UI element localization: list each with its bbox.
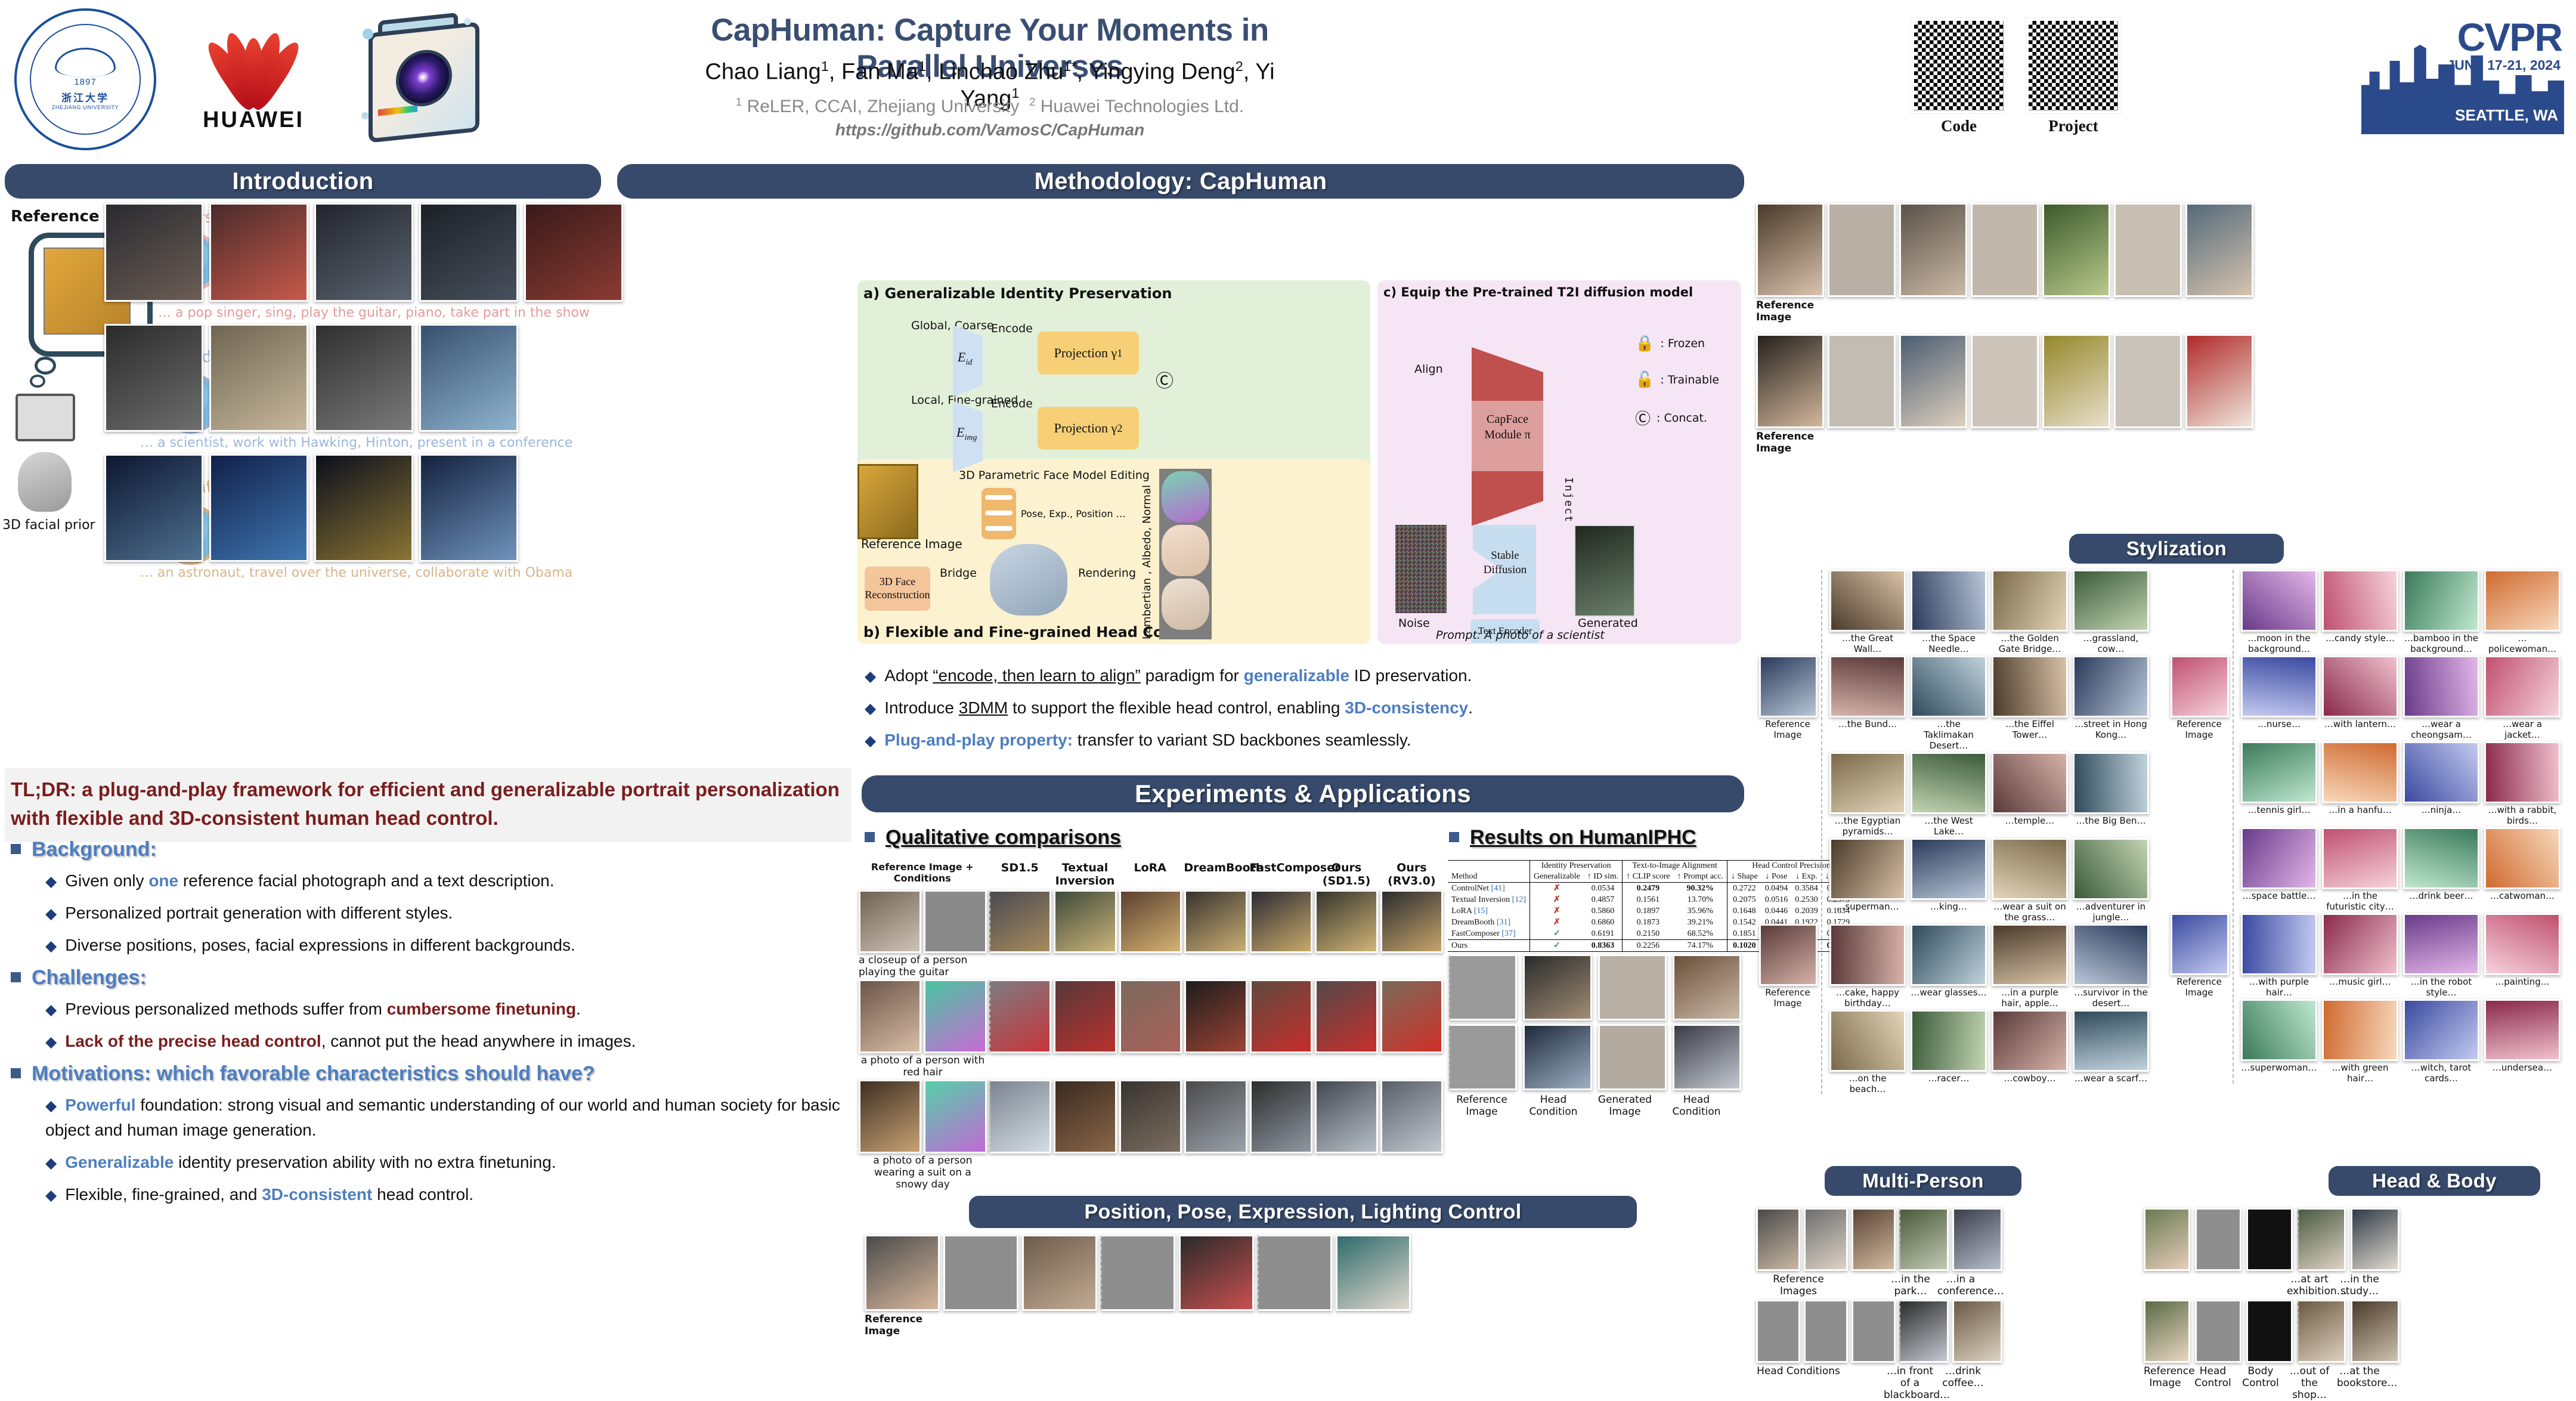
zju-chinese-name: 浙江大学 bbox=[61, 89, 109, 104]
cell-clip: 0.2479 bbox=[1623, 883, 1674, 895]
cell-prompt-acc: 74.17% bbox=[1674, 940, 1727, 952]
bullet-group-motivations: Motivations: which favorable characteris… bbox=[11, 1062, 852, 1207]
divider bbox=[1821, 570, 1822, 654]
3d-face-reconstruction-box: 3D Face Reconstruction bbox=[865, 567, 930, 611]
section-header-methodology: Methodology: CapHuman bbox=[617, 164, 1744, 199]
stylization-caption: …the Great Wall… bbox=[1829, 633, 1906, 654]
divider bbox=[2233, 827, 2234, 912]
lock-closed-icon: 🔒 bbox=[1635, 334, 1654, 352]
cell-shape: 0.1648 bbox=[1727, 905, 1761, 917]
cell-shape: 0.1020 bbox=[1727, 940, 1761, 952]
mp-caption-2: …in a conference… bbox=[1937, 1273, 1984, 1297]
stylization-cell: …wear a cheongsam… bbox=[2403, 655, 2479, 740]
stylization-cell: …the West Lake… bbox=[1911, 752, 1987, 837]
cell-shape: 0.2722 bbox=[1727, 883, 1761, 895]
qr-label-project: Project bbox=[2026, 117, 2121, 135]
qual-row: a closeup of a person playing the guitar bbox=[859, 890, 1443, 978]
stylization-cell: …the Big Ben… bbox=[2073, 752, 2149, 826]
stylization-caption: …the Egyptian pyramids… bbox=[1829, 815, 1906, 837]
cvpr-logo: CVPR JUNE 17-21, 2024 SEATTLE, WA bbox=[2361, 6, 2564, 134]
diamond-bullet-icon: ◆ bbox=[45, 1187, 57, 1204]
divider bbox=[1821, 1010, 1822, 1094]
qr-code-project[interactable]: Project bbox=[2026, 18, 2121, 135]
hb-caption-1: …at art exhibition… bbox=[2287, 1273, 2332, 1297]
cell-method: ControlNet [41] bbox=[1448, 883, 1530, 895]
hb-caption-3: …out of the shop… bbox=[2287, 1365, 2332, 1401]
stylization-caption: …survivor in the desert… bbox=[2073, 987, 2149, 1009]
stylization-row: Reference Image…cake, happy birthday……we… bbox=[1759, 924, 2165, 1009]
stylization-reference-cell: Reference Image bbox=[2171, 913, 2228, 998]
cell-method: Ours bbox=[1448, 940, 1530, 952]
qr-code-code[interactable]: Code bbox=[1911, 18, 2007, 135]
stylization-cell: …music girl… bbox=[2322, 913, 2398, 987]
hb-label-head-control: Head Control bbox=[2191, 1365, 2234, 1401]
stylization-caption: …moon in the background… bbox=[2241, 633, 2317, 654]
qual-row: a photo of a person wearing a suit on a … bbox=[859, 1080, 1443, 1190]
concat-icon: Ⓒ bbox=[1156, 366, 1174, 392]
diamond-bullet-icon: ◆ bbox=[865, 700, 876, 717]
stylization-caption: …in a hanfu… bbox=[2322, 805, 2398, 815]
divider bbox=[2233, 741, 2234, 826]
stylization-cell: …the Taklimakan Desert… bbox=[1911, 655, 1987, 751]
cell-shape: 0.1851 bbox=[1727, 928, 1761, 940]
caphuman-camera-icon bbox=[358, 11, 483, 142]
huawei-wordmark: HUAWEI bbox=[179, 107, 328, 133]
stylization-caption: …candy style… bbox=[2322, 633, 2398, 644]
cell-prompt-acc: 13.70% bbox=[1674, 894, 1727, 905]
concat-icon: Ⓒ bbox=[1635, 407, 1651, 429]
stylization-caption: …nurse… bbox=[2241, 719, 2317, 729]
zju-english-name: ZHEJIANG UNIVERSITY bbox=[52, 104, 119, 111]
stylization-ref-label-2: Reference Image bbox=[1756, 431, 1846, 454]
stylization-caption: …space battle… bbox=[2241, 890, 2317, 901]
stylization-cell: …king… bbox=[1911, 838, 1987, 912]
stylization-row: Reference Image…the Bund……the Taklimakan… bbox=[1759, 655, 2165, 751]
cell-prompt-acc: 68.52% bbox=[1674, 928, 1727, 940]
stylization-caption: …the Eiffel Tower… bbox=[1992, 719, 2068, 740]
stylization-caption: …cake, happy birthday… bbox=[1829, 987, 1906, 1009]
stylization-cell: …survivor in the desert… bbox=[2073, 924, 2149, 1009]
group-title-motivations: Motivations: which favorable characteris… bbox=[11, 1062, 852, 1085]
intro-caption-1: … a pop singer, sing, play the guitar, p… bbox=[158, 305, 850, 320]
bullet-group-background: Background: ◆Given only one reference fa… bbox=[11, 838, 852, 958]
affiliations: 1 ReLER, CCAI, Zhejiang University 2 Hua… bbox=[650, 95, 1330, 117]
stylization-cell: …wear glasses… bbox=[1911, 924, 1987, 998]
stylization-top-row-1: Reference Image bbox=[1756, 203, 2253, 323]
stylization-caption: …cowboy… bbox=[1992, 1073, 2068, 1084]
list-item: ◆Diverse positions, poses, facial expres… bbox=[45, 933, 852, 958]
hb-label-body-control: Body Control bbox=[2239, 1365, 2282, 1401]
results-examples: Reference Image Head Condition Generated… bbox=[1449, 954, 1741, 1118]
zhejiang-university-logo: 1897 浙江大学 ZHEJIANG UNIVERSITY bbox=[14, 8, 156, 150]
stylization-grid-left: …the Great Wall……the Space Needle……the G… bbox=[1759, 570, 2165, 1096]
project-url[interactable]: https://github.com/VamosC/CapHuman bbox=[650, 120, 1330, 140]
panel-a-reference-photo bbox=[857, 464, 918, 539]
stylization-cell: …superwoman… bbox=[2241, 999, 2317, 1073]
cell-prompt-acc: 90.32% bbox=[1674, 883, 1727, 895]
cell-clip: 0.1561 bbox=[1623, 894, 1674, 905]
zju-swoosh-icon bbox=[55, 48, 116, 77]
stylization-cell: …in a purple hair, apple… bbox=[1992, 924, 2068, 1009]
stylization-caption: …racer… bbox=[1911, 1073, 1987, 1084]
list-item: ◆Personalized portrait generation with d… bbox=[45, 901, 852, 926]
diamond-bullet-icon: ◆ bbox=[45, 1034, 57, 1050]
stylization-reference-cell: Reference Image bbox=[1759, 924, 1816, 1009]
cell-clip: 0.1897 bbox=[1623, 905, 1674, 917]
stylization-caption: …street in Hong Kong… bbox=[2073, 719, 2149, 740]
stylization-caption: …the Space Needle… bbox=[1911, 633, 1987, 654]
stylization-row: …space battle……in the futuristic city……d… bbox=[2171, 827, 2570, 912]
stylization-caption: …the Big Ben… bbox=[2073, 815, 2149, 826]
cell-id-sim: 0.0534 bbox=[1584, 883, 1623, 895]
label-noise: Noise bbox=[1398, 617, 1430, 630]
stylization-cell: …grassland, cow… bbox=[2073, 570, 2149, 654]
stylization-cell: …witch, tarot cards… bbox=[2403, 999, 2479, 1084]
stylization-cell: …cowboy… bbox=[1992, 1010, 2068, 1084]
zju-logo-inner: 1897 浙江大学 ZHEJIANG UNIVERSITY bbox=[30, 24, 141, 135]
label-global-coarse: Global, Coarse bbox=[911, 319, 994, 332]
cell-clip: 0.2150 bbox=[1623, 928, 1674, 940]
label-3d-editing: 3D Parametric Face Model Editing bbox=[959, 469, 1150, 482]
col-clip: ↑ CLIP score bbox=[1623, 871, 1674, 883]
group-title-challenges: Challenges: bbox=[11, 966, 852, 989]
stylization-cell: …with a rabbit, birds… bbox=[2484, 741, 2560, 826]
intro-gallery: … a pop singer, sing, play the guitar, p… bbox=[104, 203, 850, 580]
zju-founding-year: 1897 bbox=[74, 77, 96, 87]
cell-generalizable: ✓ bbox=[1530, 940, 1584, 952]
stylization-ref-label-1: Reference Image bbox=[1756, 299, 1846, 323]
stylization-row: Reference Image…nurse……with lantern……wea… bbox=[2171, 655, 2570, 740]
intro-row-1 bbox=[104, 203, 850, 302]
stylization-cell: …cake, happy birthday… bbox=[1829, 924, 1906, 1009]
stylization-cell: …on the beach… bbox=[1829, 1010, 1906, 1094]
stylization-caption: …in the futuristic city… bbox=[2322, 890, 2398, 912]
stylization-caption: …the Bund… bbox=[1829, 719, 1906, 729]
label-encode-1: Encode bbox=[991, 322, 1033, 335]
stylization-reference-label: Reference Image bbox=[1759, 987, 1816, 1009]
stylization-cell: …superman… bbox=[1829, 838, 1906, 912]
label-rendering: Rendering bbox=[1078, 567, 1136, 580]
stylization-cell: …moon in the background… bbox=[2241, 570, 2317, 654]
hb-label-reference: Reference Image bbox=[2144, 1365, 2187, 1401]
diamond-bullet-icon: ◆ bbox=[45, 1097, 57, 1114]
stylization-caption: …undersea… bbox=[2484, 1062, 2560, 1073]
stylization-cell: …the Bund… bbox=[1829, 655, 1906, 729]
stylization-cell: …nurse… bbox=[2241, 655, 2317, 729]
col-method: Method bbox=[1448, 871, 1530, 883]
stylization-reference-cell: Reference Image bbox=[2171, 655, 2228, 740]
stylization-cell: …in a hanfu… bbox=[2322, 741, 2398, 815]
stylization-cell: …painting… bbox=[2484, 913, 2560, 987]
intro-bullet-groups: Background: ◆Given only one reference fa… bbox=[11, 838, 852, 1214]
stylization-cell: …wear a scarf… bbox=[2073, 1010, 2149, 1084]
cell-shape: 0.2075 bbox=[1727, 894, 1761, 905]
lock-open-icon: 🔓 bbox=[1635, 370, 1654, 389]
label-pose-exp-position: Pose, Exp., Position … bbox=[1021, 508, 1126, 519]
square-bullet-icon bbox=[11, 844, 21, 854]
results-title: Results on HumanIPHC bbox=[1449, 826, 1696, 849]
cell-method: Textual Inversion [12] bbox=[1448, 894, 1530, 905]
stylization-caption: …with lantern… bbox=[2322, 719, 2398, 729]
stylization-cell: …street in Hong Kong… bbox=[2073, 655, 2149, 740]
stylization-caption: …painting… bbox=[2484, 976, 2560, 987]
legend-label-concat: : Concat. bbox=[1657, 412, 1707, 425]
diamond-bullet-icon: ◆ bbox=[45, 1155, 57, 1171]
rendered-stack bbox=[1159, 469, 1212, 639]
cell-clip: 0.2256 bbox=[1623, 940, 1674, 952]
legend-row-concat: Ⓒ : Concat. bbox=[1635, 407, 1719, 429]
stylization-row: …moon in the background……candy style……ba… bbox=[2171, 570, 2570, 654]
stylization-cell: …the Eiffel Tower… bbox=[1992, 655, 2068, 740]
section-header-head-body: Head & Body bbox=[2329, 1166, 2540, 1196]
divider bbox=[2233, 999, 2234, 1084]
cell-id-sim: 0.8363 bbox=[1584, 940, 1623, 952]
cell-generalizable: ✗ bbox=[1530, 917, 1584, 928]
stylization-cell: …catwoman… bbox=[2484, 827, 2560, 901]
stylization-cell: …wear a suit on the grass… bbox=[1992, 838, 2068, 923]
stylization-cell: …temple… bbox=[1992, 752, 2068, 826]
label-bridge: Bridge bbox=[940, 567, 977, 580]
cell-prompt-acc: 39.21% bbox=[1674, 917, 1727, 928]
stylization-caption: …tennis girl… bbox=[2241, 805, 2317, 815]
divider bbox=[2233, 570, 2234, 654]
group-header-alignment: Text-to-Image Alignment bbox=[1623, 861, 1727, 872]
qual-column-headers: Reference Image + Conditions SD1.5 Textu… bbox=[859, 861, 1443, 887]
stylization-reference-label: Reference Image bbox=[2171, 719, 2228, 740]
list-item: ◆Adopt “encode, then learn to align” par… bbox=[865, 663, 1741, 688]
panel-a-title: a) Generalizable Identity Preservation bbox=[863, 285, 1172, 302]
mp-caption-3: …in front of a blackboard… bbox=[1884, 1365, 1936, 1401]
hb-caption-2: …in the study… bbox=[2337, 1273, 2382, 1297]
stylization-cell: …the Great Wall… bbox=[1829, 570, 1906, 654]
label-inject: Inject bbox=[1562, 477, 1575, 523]
section-header-multi-person: Multi-Person bbox=[1825, 1166, 2021, 1196]
stylization-row: …on the beach……racer……cowboy……wear a sca… bbox=[1759, 1010, 2165, 1094]
qr-code-group: Code Project bbox=[1911, 18, 2121, 135]
legend-row-trainable: 🔓 : Trainable bbox=[1635, 370, 1719, 389]
projection-gamma1-box: Projection γ1 bbox=[1038, 332, 1139, 375]
divider bbox=[1821, 924, 1822, 1009]
qr-code-icon bbox=[1911, 18, 2007, 113]
stylization-caption: …grassland, cow… bbox=[2073, 633, 2149, 654]
stylization-caption: …witch, tarot cards… bbox=[2403, 1062, 2479, 1084]
list-item: ◆Introduce 3DMM to support the flexible … bbox=[865, 695, 1741, 720]
stylization-caption: …the Taklimakan Desert… bbox=[1911, 719, 1987, 751]
label-render-axis: Lambertian , Albedo, Normal bbox=[1141, 469, 1156, 639]
encoder-eid-label: Eid bbox=[958, 350, 972, 367]
sub-label-reference: Reference Image bbox=[1449, 1094, 1515, 1118]
stylization-caption: …in the robot style… bbox=[2403, 976, 2479, 998]
cvpr-dates: JUNE 17-21, 2024 bbox=[2447, 57, 2560, 73]
hb-caption-4: …at the bookstore… bbox=[2337, 1365, 2382, 1401]
stylization-row: …the Great Wall……the Space Needle……the G… bbox=[1759, 570, 2165, 654]
encoder-eimg-label: Eimg bbox=[956, 425, 977, 443]
section-header-ppel: Position, Pose, Expression, Lighting Con… bbox=[969, 1196, 1637, 1228]
legend-label-trainable: : Trainable bbox=[1660, 373, 1719, 386]
list-item: ◆Generalizable identity preservation abi… bbox=[45, 1150, 852, 1175]
stylization-cell: …in the futuristic city… bbox=[2322, 827, 2398, 912]
cell-clip: 0.1873 bbox=[1623, 917, 1674, 928]
bubble-dot-small bbox=[30, 375, 45, 388]
stylization-caption: …the Golden Gate Bridge… bbox=[1992, 633, 2068, 654]
col-prompt-acc: ↑ Prompt acc. bbox=[1674, 871, 1727, 883]
group-header-identity: Identity Preservation bbox=[1530, 861, 1623, 872]
intro-row-3 bbox=[104, 454, 850, 562]
stylization-caption: …superman… bbox=[1829, 901, 1906, 912]
stylization-reference-cell: Reference Image bbox=[1759, 655, 1816, 740]
stylization-caption: …policewoman… bbox=[2484, 633, 2560, 654]
stylization-caption: …with green hair… bbox=[2322, 1062, 2398, 1084]
stylization-caption: …temple… bbox=[1992, 815, 2068, 826]
stylization-caption: …ninja… bbox=[2403, 805, 2479, 815]
stylization-caption: …catwoman… bbox=[2484, 890, 2560, 901]
col-shape: ↓ Shape bbox=[1727, 871, 1761, 883]
3d-head-prior-icon bbox=[18, 452, 72, 512]
cell-id-sim: 0.5860 bbox=[1584, 905, 1623, 917]
capface-module-label: CapFaceModule π bbox=[1478, 412, 1537, 443]
mp-caption-4: …drink coffee… bbox=[1940, 1365, 1986, 1401]
stable-diffusion-label: StableDiffusion bbox=[1480, 549, 1530, 577]
facial-prior-label: 3D facial prior bbox=[2, 518, 95, 533]
stylization-caption: …with a rabbit, birds… bbox=[2484, 805, 2560, 826]
qualitative-title: Qualitative comparisons bbox=[865, 826, 1121, 849]
square-bullet-icon bbox=[11, 972, 21, 982]
stylization-top-row-2: Reference Image bbox=[1756, 334, 2253, 454]
divider bbox=[1821, 752, 1822, 837]
cell-id-sim: 0.6860 bbox=[1584, 917, 1623, 928]
legend-label-frozen: : Frozen bbox=[1660, 337, 1705, 350]
stylization-caption: …the West Lake… bbox=[1911, 815, 1987, 837]
3d-mesh-head-icon bbox=[990, 544, 1067, 616]
stylization-row: …superman……king……wear a suit on the gras… bbox=[1759, 838, 2165, 923]
stylization-cell: …with purple hair… bbox=[2241, 913, 2317, 998]
cell-id-sim: 0.4857 bbox=[1584, 894, 1623, 905]
stylization-reference-label: Reference Image bbox=[1759, 719, 1816, 740]
huawei-logo: HUAWEI bbox=[179, 18, 328, 137]
method-legend: 🔒 : Frozen 🔓 : Trainable Ⓒ : Concat. bbox=[1635, 334, 1719, 429]
list-item: ◆Flexible, fine-grained, and 3D-consiste… bbox=[45, 1182, 852, 1207]
panel-c-title: c) Equip the Pre-trained T2I diffusion m… bbox=[1383, 285, 1693, 299]
mp-caption-1: …in the park… bbox=[1887, 1273, 1934, 1297]
sub-label-head-cond-2: Head Condition bbox=[1664, 1094, 1729, 1118]
stylization-row: …the Egyptian pyramids……the West Lake……t… bbox=[1759, 752, 2165, 837]
stylization-cell: …racer… bbox=[1911, 1010, 1987, 1084]
legend-row-frozen: 🔒 : Frozen bbox=[1635, 334, 1719, 352]
stylization-cell: …ninja… bbox=[2403, 741, 2479, 815]
cell-prompt-acc: 35.96% bbox=[1674, 905, 1727, 917]
stylization-cell: …adventurer in jungle… bbox=[2073, 838, 2149, 923]
label-align: Align bbox=[1414, 363, 1443, 376]
square-bullet-icon bbox=[1449, 832, 1459, 842]
method-panel-b bbox=[857, 459, 1370, 644]
tldr-statement: TL;DR: a plug-and-play framework for eff… bbox=[5, 768, 852, 842]
stylization-row: …superwoman……with green hair……witch, tar… bbox=[2171, 999, 2570, 1084]
stylization-cell: …with green hair… bbox=[2322, 999, 2398, 1084]
stylization-caption: …superwoman… bbox=[2241, 1062, 2317, 1073]
projection-gamma2-box: Projection γ2 bbox=[1038, 407, 1139, 450]
stylization-cell: …bamboo in the background… bbox=[2403, 570, 2479, 654]
intro-row-2 bbox=[104, 324, 850, 432]
huawei-petals-icon bbox=[179, 18, 328, 107]
ppel-strip: Reference Image bbox=[865, 1235, 1411, 1337]
stylization-cell: …wear a jacket… bbox=[2484, 655, 2560, 740]
cell-method: FastComposer [37] bbox=[1448, 928, 1530, 940]
stylization-caption: …drink beer… bbox=[2403, 890, 2479, 901]
stylization-caption: …wear a suit on the grass… bbox=[1992, 901, 2068, 923]
slider-panel-icon bbox=[982, 488, 1016, 539]
stylization-cell: …policewoman… bbox=[2484, 570, 2560, 654]
stylization-caption: …music girl… bbox=[2322, 976, 2398, 987]
cell-generalizable: ✗ bbox=[1530, 905, 1584, 917]
camera-prior-icon bbox=[16, 394, 75, 441]
stylization-caption: …wear a scarf… bbox=[2073, 1073, 2149, 1084]
mp-label-reference: Reference Images bbox=[1756, 1273, 1841, 1297]
stylization-cell: …undersea… bbox=[2484, 999, 2560, 1073]
stylization-grid-right: …moon in the background……candy style……ba… bbox=[2171, 570, 2570, 1085]
cell-method: DreamBooth [31] bbox=[1448, 917, 1530, 928]
stylization-caption: …wear glasses… bbox=[1911, 987, 1987, 998]
stylization-cell: …the Golden Gate Bridge… bbox=[1992, 570, 2068, 654]
generated-image bbox=[1574, 525, 1635, 617]
stylization-cell: …tennis girl… bbox=[2241, 741, 2317, 815]
divider bbox=[2233, 655, 2234, 740]
list-item: ◆Given only one reference facial photogr… bbox=[45, 868, 852, 893]
qr-code-icon bbox=[2026, 18, 2121, 113]
ppel-reference-label: Reference Image bbox=[865, 1313, 936, 1337]
stylization-cell: …the Space Needle… bbox=[1911, 570, 1987, 654]
diamond-bullet-icon: ◆ bbox=[865, 668, 876, 685]
list-item: ◆Powerful foundation: strong visual and … bbox=[45, 1093, 852, 1143]
list-item: ◆Previous personalized methods suffer fr… bbox=[45, 997, 852, 1022]
diamond-bullet-icon: ◆ bbox=[865, 732, 876, 749]
intro-caption-2: … a scientist, work with Hawking, Hinton… bbox=[140, 435, 850, 450]
square-bullet-icon bbox=[865, 832, 875, 842]
stylization-cell: …space battle… bbox=[2241, 827, 2317, 901]
bubble-dot-large bbox=[35, 357, 56, 375]
mp-label-head-conditions: Head Conditions bbox=[1756, 1365, 1841, 1401]
cell-generalizable: ✗ bbox=[1530, 883, 1584, 895]
cell-method: LoRA [15] bbox=[1448, 905, 1530, 917]
stylization-row: …tennis girl……in a hanfu……ninja……with a … bbox=[2171, 741, 2570, 826]
stylization-cell: …drink beer… bbox=[2403, 827, 2479, 901]
col-id-sim: ↑ ID sim. bbox=[1584, 871, 1623, 883]
sub-label-generated: Generated Image bbox=[1592, 1094, 1658, 1118]
stylization-cell: …in the robot style… bbox=[2403, 913, 2479, 998]
prompt-text: Prompt: A photo of a scientist bbox=[1436, 629, 1605, 642]
stylization-caption: …wear a cheongsam… bbox=[2403, 719, 2479, 740]
cell-id-sim: 0.6191 bbox=[1584, 928, 1623, 940]
method-bullets: ◆Adopt “encode, then learn to align” par… bbox=[865, 656, 1741, 760]
divider bbox=[2233, 913, 2234, 998]
diamond-bullet-icon: ◆ bbox=[45, 905, 57, 922]
cell-generalizable: ✓ bbox=[1530, 928, 1584, 940]
stylization-caption: …adventurer in jungle… bbox=[2073, 901, 2149, 923]
list-item: ◆Lack of the precise head control, canno… bbox=[45, 1029, 852, 1054]
divider bbox=[1821, 838, 1822, 923]
label-generated: Generated bbox=[1578, 617, 1638, 630]
intro-caption-3: … an astronaut, travel over the universe… bbox=[140, 565, 850, 580]
list-item: ◆Plug-and-play property: transfer to var… bbox=[865, 728, 1741, 753]
stylization-caption: …in a purple hair, apple… bbox=[1992, 987, 2068, 1009]
diamond-bullet-icon: ◆ bbox=[45, 1001, 57, 1018]
stylization-caption: …with purple hair… bbox=[2241, 976, 2317, 998]
head-body-strip: …at art exhibition… …in the study… Refer… bbox=[2144, 1208, 2399, 1401]
cell-shape: 0.1542 bbox=[1727, 917, 1761, 928]
stylization-cell: …the Egyptian pyramids… bbox=[1829, 752, 1906, 837]
cell-generalizable: ✗ bbox=[1530, 894, 1584, 905]
section-header-experiments: Experiments & Applications bbox=[862, 775, 1744, 812]
label-reference-image-b: Reference Image bbox=[861, 537, 962, 551]
